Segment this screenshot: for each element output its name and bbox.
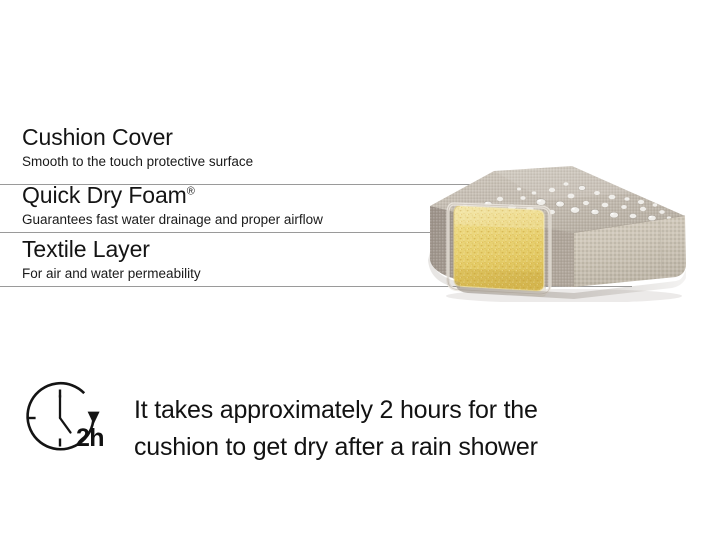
callout-title: Textile Layer [22, 236, 201, 263]
claim-text-line-1: It takes approximately 2 hours for the [134, 392, 604, 429]
drying-time-claim: 2h It takes approximately 2 hours for th… [0, 378, 720, 478]
callout-subtitle: For air and water permeability [22, 265, 201, 283]
registered-mark: ® [187, 185, 195, 197]
clock-arrowhead [88, 412, 100, 425]
callout-quick-dry-foam: Quick Dry Foam® Guarantees fast water dr… [22, 182, 323, 229]
claim-text-line-2: cushion to get dry after a rain shower [134, 429, 604, 466]
cushion-cutaway-illustration [424, 160, 690, 302]
callout-textile-layer: Textile Layer For air and water permeabi… [22, 236, 201, 283]
callout-title: Quick Dry Foam® [22, 182, 323, 209]
clock-duration-label: 2h [76, 426, 104, 451]
clock-hands [60, 396, 71, 433]
clock-2h-icon: 2h [24, 382, 134, 462]
callout-title-text: Textile Layer [22, 236, 150, 262]
callout-subtitle: Smooth to the touch protective surface [22, 153, 253, 171]
callout-subtitle: Guarantees fast water drainage and prope… [22, 211, 323, 229]
quick-dry-foam-core [448, 202, 556, 301]
callout-title-text: Quick Dry Foam [22, 182, 187, 208]
callout-cushion-cover: Cushion Cover Smooth to the touch protec… [22, 124, 253, 171]
callout-title-text: Cushion Cover [22, 124, 173, 150]
infographic-canvas: Cushion Cover Smooth to the touch protec… [0, 0, 720, 542]
claim-text: It takes approximately 2 hours for the c… [134, 392, 604, 466]
callout-title: Cushion Cover [22, 124, 253, 151]
